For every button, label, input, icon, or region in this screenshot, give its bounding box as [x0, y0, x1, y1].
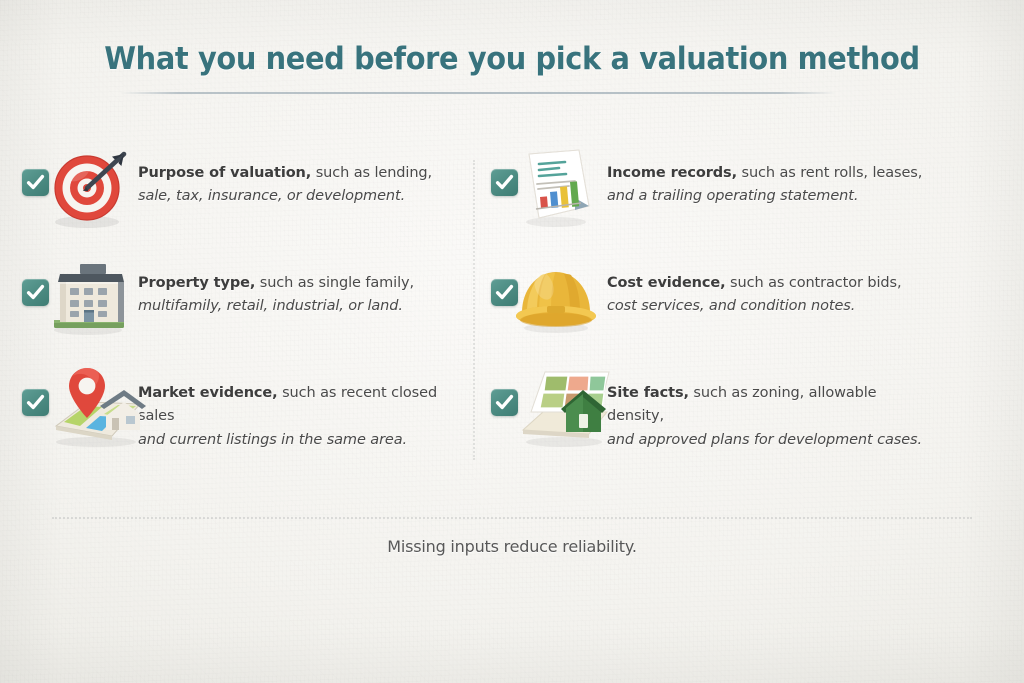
checklist-item: Site facts, such as zoning, allowable de…: [487, 360, 935, 470]
checkbox-checked[interactable]: [22, 279, 49, 306]
title-block: What you need before you pick a valuatio…: [0, 42, 1024, 78]
item-line2: and approved plans for development cases…: [607, 432, 922, 448]
checkbox-checked[interactable]: [22, 169, 49, 196]
item-icon-wrap: [18, 250, 138, 342]
financial-document-icon: [509, 140, 605, 232]
item-icon-wrap: [18, 140, 138, 232]
item-rest: such as single family,: [255, 275, 414, 291]
item-text: Site facts, such as zoning, allowable de…: [607, 382, 932, 452]
item-line2: and current listings in the same area.: [138, 432, 407, 448]
office-building-icon: [40, 250, 136, 342]
zoning-map-house-icon: [509, 360, 605, 452]
footer-note: Missing inputs reduce reliability.: [0, 537, 1024, 556]
checkbox-checked[interactable]: [491, 279, 518, 306]
checklist-column-right: Income records, such as rent rolls, leas…: [487, 140, 935, 470]
item-line2: multifamily, retail, industrial, or land…: [138, 298, 403, 314]
hard-hat-icon: [509, 250, 605, 342]
item-rest: such as rent rolls, leases,: [737, 165, 922, 181]
page-title: What you need before you pick a valuatio…: [36, 42, 988, 78]
checklist-item: Property type, such as single family, mu…: [18, 250, 466, 360]
item-text: Market evidence, such as recent closed s…: [138, 382, 463, 452]
checklist-item: Income records, such as rent rolls, leas…: [487, 140, 935, 250]
item-lead: Site facts,: [607, 385, 689, 401]
checklist-column-left: Purpose of valuation, such as lending, s…: [18, 140, 466, 470]
checkbox-checked[interactable]: [491, 389, 518, 416]
item-lead: Property type,: [138, 275, 255, 291]
infographic-page: What you need before you pick a valuatio…: [0, 0, 1024, 683]
item-text: Property type, such as single family, mu…: [138, 272, 463, 319]
checkbox-checked[interactable]: [22, 389, 49, 416]
map-pin-house-icon: [40, 360, 136, 452]
column-divider: [473, 160, 475, 460]
title-underline-rule: [120, 92, 836, 94]
item-lead: Cost evidence,: [607, 275, 726, 291]
item-line2: sale, tax, insurance, or development.: [138, 188, 405, 204]
item-rest: such as lending,: [311, 165, 432, 181]
item-icon-wrap: [18, 360, 138, 452]
item-text: Cost evidence, such as contractor bids, …: [607, 272, 932, 319]
item-icon-wrap: [487, 140, 607, 232]
item-text: Income records, such as rent rolls, leas…: [607, 162, 932, 209]
item-lead: Income records,: [607, 165, 737, 181]
item-lead: Market evidence,: [138, 385, 278, 401]
item-line2: and a trailing operating statement.: [607, 188, 858, 204]
item-icon-wrap: [487, 360, 607, 452]
item-rest: such as contractor bids,: [726, 275, 902, 291]
target-icon: [40, 140, 136, 232]
footer-divider: [52, 517, 972, 519]
item-text: Purpose of valuation, such as lending, s…: [138, 162, 463, 209]
item-line2: cost services, and condition notes.: [607, 298, 855, 314]
item-icon-wrap: [487, 250, 607, 342]
checklist-item: Cost evidence, such as contractor bids, …: [487, 250, 935, 360]
item-lead: Purpose of valuation,: [138, 165, 311, 181]
checklist-item: Purpose of valuation, such as lending, s…: [18, 140, 466, 250]
checkbox-checked[interactable]: [491, 169, 518, 196]
checklist-item: Market evidence, such as recent closed s…: [18, 360, 466, 470]
